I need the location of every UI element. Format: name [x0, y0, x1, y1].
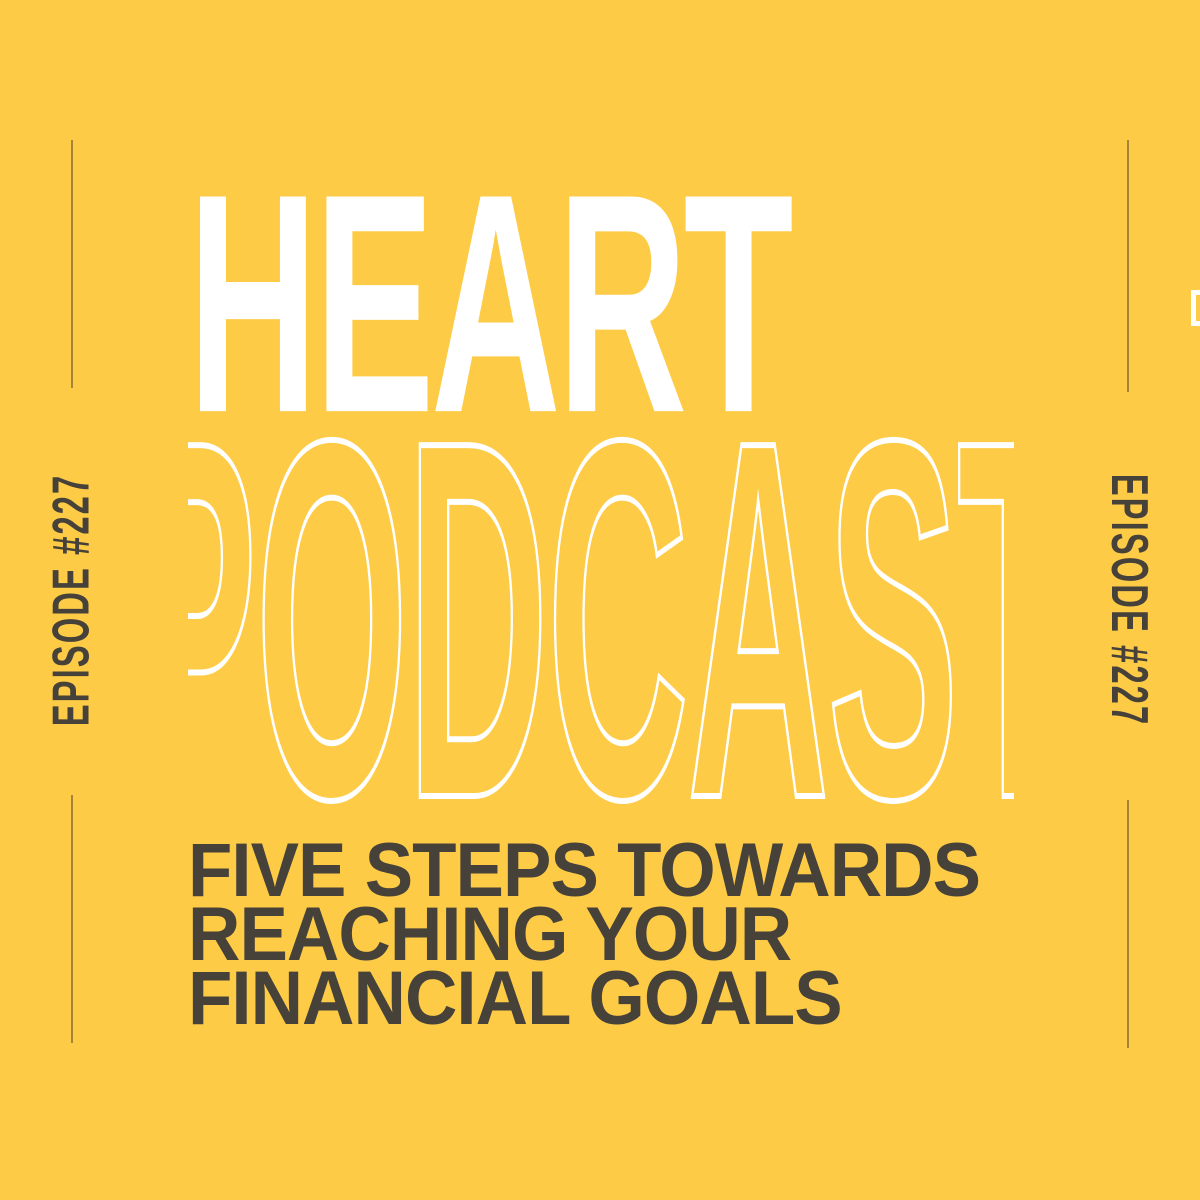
episode-label-left: EPISODE #227 — [43, 474, 102, 727]
episode-title: FIVE STEPS TOWARDS REACHING YOUR FINANCI… — [188, 840, 1014, 1032]
cover-center-stack: HEART HUSTLE PODCAST FIVE STEPS TOWARDS … — [188, 0, 1014, 1200]
rail-divider-line-bottom-right — [1127, 800, 1129, 1048]
wordmark-heart: HEART — [188, 191, 790, 416]
rail-divider-line-top-right — [1127, 140, 1129, 392]
podcast-outline-text: PODCAST — [188, 432, 1014, 809]
rail-divider-line-bottom-left — [71, 795, 73, 1043]
podcast-cover-artwork: EPISODE #227 EPISODE #227 HEART HUSTLE P… — [0, 0, 1200, 1200]
episode-rail-right: EPISODE #227 — [1068, 0, 1188, 1200]
episode-label-right: EPISODE #227 — [1099, 474, 1158, 727]
format-wordmark-podcast: PODCAST — [188, 432, 1014, 810]
episode-title-line-3: FINANCIAL GOALS — [188, 968, 977, 1030]
rail-divider-line-top-left — [71, 140, 73, 388]
episode-rail-left: EPISODE #227 — [12, 0, 132, 1200]
show-wordmark: HEART HUSTLE — [188, 178, 1014, 428]
plus-icon — [1191, 268, 1200, 338]
